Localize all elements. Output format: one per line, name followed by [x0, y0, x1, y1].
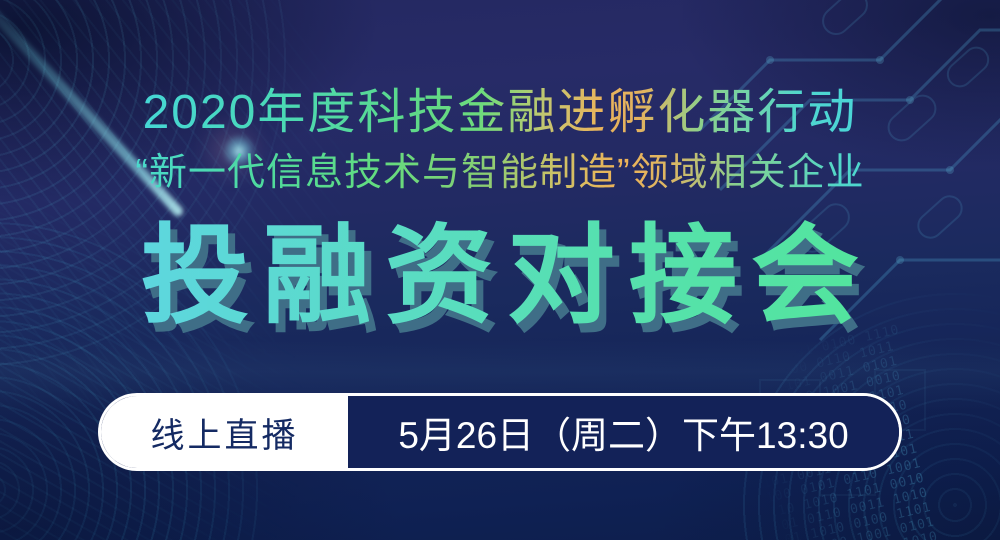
poster-line-2: “新一代信息技术与智能制造”领域相关企业 — [0, 150, 1000, 196]
poster-headline-group: 投融资对接会 投融资对接会 — [0, 216, 1000, 346]
poster-banner: 0101 1001 0100 1110 1001 0100 0110 1011 … — [0, 0, 1000, 540]
badge-mode-section: 线上直播 — [101, 396, 348, 468]
badge-datetime-section: 5月26日（周二）下午13:30 — [348, 396, 899, 468]
badge-mode-label: 线上直播 — [151, 408, 299, 457]
poster-content: 2020年度科技金融进孵化器行动 “新一代信息技术与智能制造”领域相关企业 投融… — [0, 0, 1000, 540]
event-info-badge: 线上直播 5月26日（周二）下午13:30 — [98, 393, 902, 471]
badge-datetime-label: 5月26日（周二）下午13:30 — [398, 405, 848, 459]
poster-headline: 投融资对接会 — [0, 216, 1000, 338]
poster-line-1: 2020年度科技金融进孵化器行动 — [0, 85, 1000, 141]
